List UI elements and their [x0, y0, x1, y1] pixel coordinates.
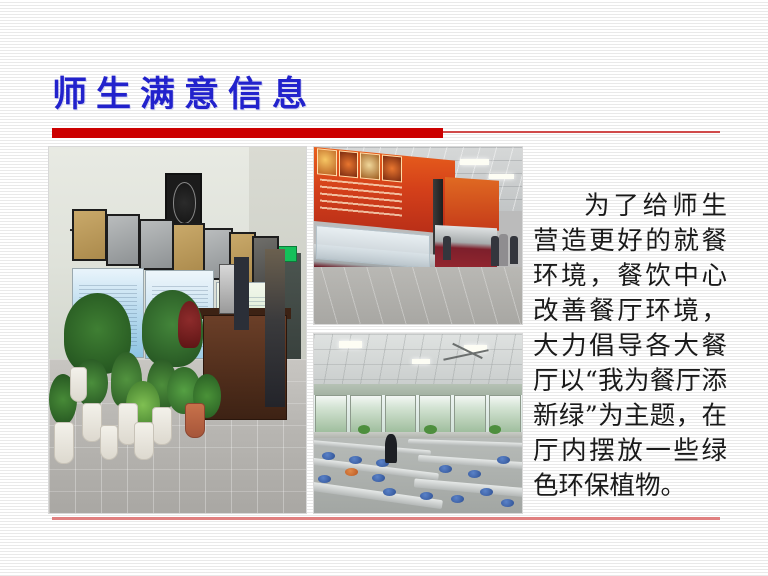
stool: [501, 499, 514, 507]
stool: [383, 488, 396, 496]
presentation-slide: 师生满意信息: [0, 0, 768, 576]
floor-tile-grid: [314, 267, 522, 324]
person-figure: [265, 249, 286, 406]
body-paragraph: 为了给师生营造更好的就餐环境，餐饮中心改善餐厅环境，大力倡导各大餐厅以“我为餐厅…: [533, 189, 727, 504]
stool: [439, 465, 452, 473]
flower-pot: [70, 367, 87, 402]
stool: [420, 492, 433, 500]
wall-plaque: [72, 209, 107, 261]
window-pane: [315, 395, 347, 434]
menu-photo-strip: [317, 149, 402, 182]
flower-pot: [152, 407, 172, 446]
person-figure: [491, 236, 499, 266]
ceiling-light: [460, 159, 489, 164]
menu-dish-photo: [382, 155, 402, 182]
menu-dish-photo: [339, 151, 359, 178]
stool: [372, 474, 385, 482]
title-underline-line: [443, 131, 720, 133]
stool: [497, 456, 510, 464]
ceiling-light: [489, 174, 514, 179]
ceiling-light: [412, 359, 431, 364]
page-title: 师生满意信息: [52, 72, 472, 118]
flower-pot: [134, 422, 154, 461]
photo-lobby-canvas: [49, 147, 306, 513]
menu-board-secondary: [445, 177, 499, 230]
photo-dining-hall-seating: [313, 333, 523, 514]
menu-item-lines: [320, 179, 402, 220]
window-sill-plant: [424, 425, 436, 434]
window-pane: [385, 395, 417, 434]
flower-pot: [82, 403, 102, 442]
flower-pot: [54, 422, 74, 464]
wall-plaque: [172, 223, 204, 275]
stool: [468, 470, 481, 478]
person-figure: [385, 434, 397, 463]
title-block: 师生满意信息: [52, 72, 472, 124]
stool: [349, 456, 362, 464]
person-figure: [499, 234, 508, 266]
potted-plant-foliage: [178, 301, 201, 349]
person-figure: [443, 236, 451, 261]
menu-dish-photo: [360, 153, 380, 180]
person-figure: [234, 257, 249, 330]
photo-counter-canvas: [314, 147, 522, 324]
photo-cafeteria-service-counter: [313, 146, 523, 325]
menu-dish-photo: [317, 149, 337, 176]
flower-pot: [100, 425, 117, 460]
bottom-divider-line: [52, 517, 720, 520]
flower-pot: [185, 403, 205, 438]
photo-hall-canvas: [314, 334, 522, 513]
wall-plaque: [139, 219, 174, 271]
photo-cafeteria-lobby-with-plants: [48, 146, 307, 514]
person-figure: [510, 236, 518, 264]
window-pane: [454, 395, 486, 434]
title-underline-bar: [52, 128, 443, 138]
wall-plaque: [106, 214, 141, 266]
ceiling-light: [339, 341, 362, 348]
floor: [314, 267, 522, 324]
